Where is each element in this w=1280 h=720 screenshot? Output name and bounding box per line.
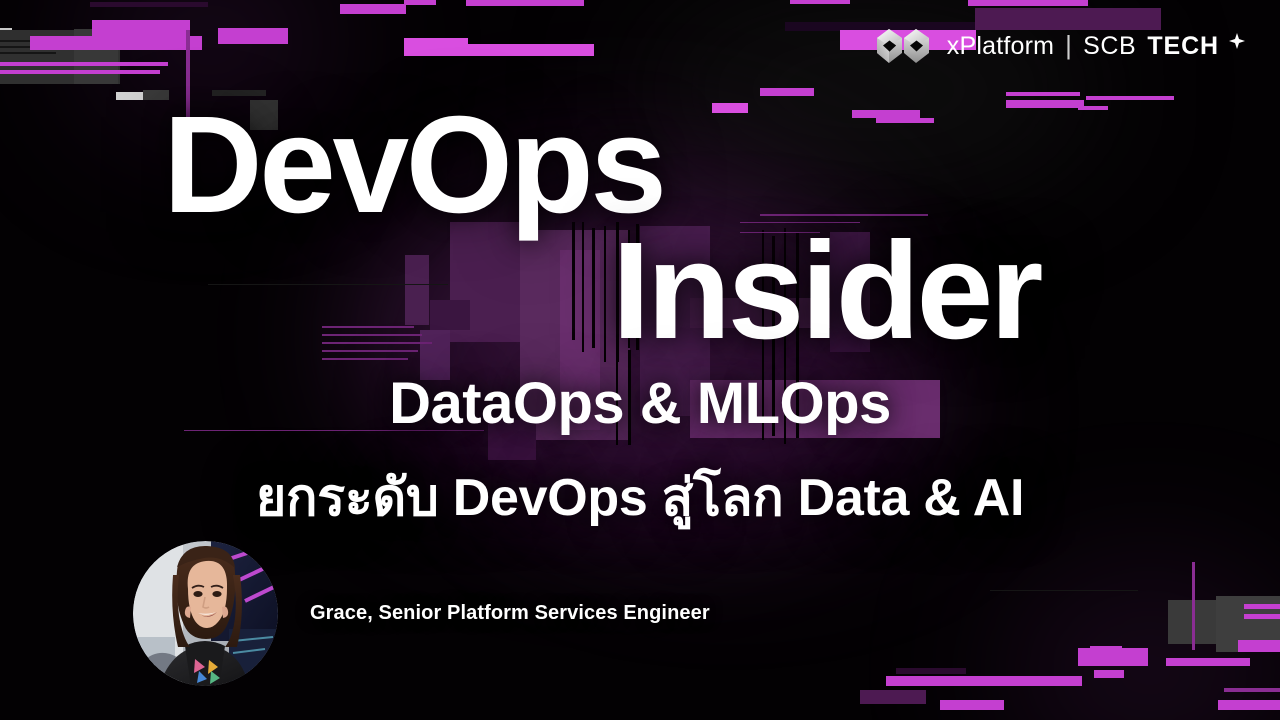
glitch-block [430,300,470,330]
glitch-block [1238,640,1280,652]
glitch-block [208,284,448,285]
glitch-block [90,2,208,7]
glitch-block [0,70,160,74]
brand-logo-bar: xPlatform | SCB TECH [875,26,1246,66]
glitch-block [1218,700,1280,710]
brand-product-label: xPlatform [947,32,1054,61]
speaker-block: Grace, Senior Platform Services Engineer [133,541,710,686]
brand-company-suffix-label: TECH [1147,32,1219,61]
subtitle-line1: DataOps & MLOps [0,370,1280,437]
glitch-block [886,676,1082,686]
glitch-block [322,334,422,336]
glitch-block [760,88,814,96]
glitch-block [860,690,926,704]
glitch-block [404,0,436,5]
glitch-block [1244,604,1280,609]
speaker-name-role: Grace, Senior Platform Services Engineer [310,602,710,625]
glitch-block [1090,646,1122,662]
four-point-star-icon [1229,27,1245,43]
glitch-block [990,590,1138,591]
glitch-block [322,350,418,352]
brand-divider: | [1065,30,1072,61]
glitch-block [940,700,1004,710]
glitch-block [405,255,429,325]
glitch-block [1244,614,1280,619]
glitch-block [790,0,850,4]
glitch-block [604,226,606,362]
glitch-block [1078,106,1108,110]
slide-canvas: xPlatform | SCB TECH DevOps Insider Data… [0,0,1280,720]
glitch-block [876,118,934,123]
glitch-block [968,0,1088,6]
glitch-block [1192,562,1195,650]
glitch-block [1086,96,1174,100]
brand-logo-text: xPlatform | SCB TECH [947,31,1246,62]
glitch-block [340,4,406,14]
glitch-block [1224,688,1280,692]
subtitle-line2: ยกระดับ DevOps สู่โลก Data & AI [0,455,1280,538]
glitch-block [0,52,56,54]
glitch-block [218,28,288,44]
glitch-block [852,110,920,118]
page-title-line2: Insider [612,222,1040,360]
brand-company-label: SCB [1083,32,1136,61]
glitch-block [896,668,966,674]
glitch-block [1166,658,1250,666]
page-title-line1: DevOps [163,96,664,234]
glitch-block [30,36,202,50]
glitch-block [1094,670,1124,678]
glitch-block [712,103,748,113]
glitch-block [1006,92,1080,96]
glitch-block [404,44,594,56]
glitch-block [322,326,414,328]
glitch-block [322,342,432,344]
glitch-block [1006,100,1084,108]
speaker-portrait-avatar [133,541,278,686]
xplatform-double-diamond-icon [875,26,933,66]
glitch-block [592,228,595,348]
glitch-block [466,0,584,6]
glitch-block [92,20,190,36]
glitch-block [0,62,168,66]
glitch-block [322,358,408,360]
